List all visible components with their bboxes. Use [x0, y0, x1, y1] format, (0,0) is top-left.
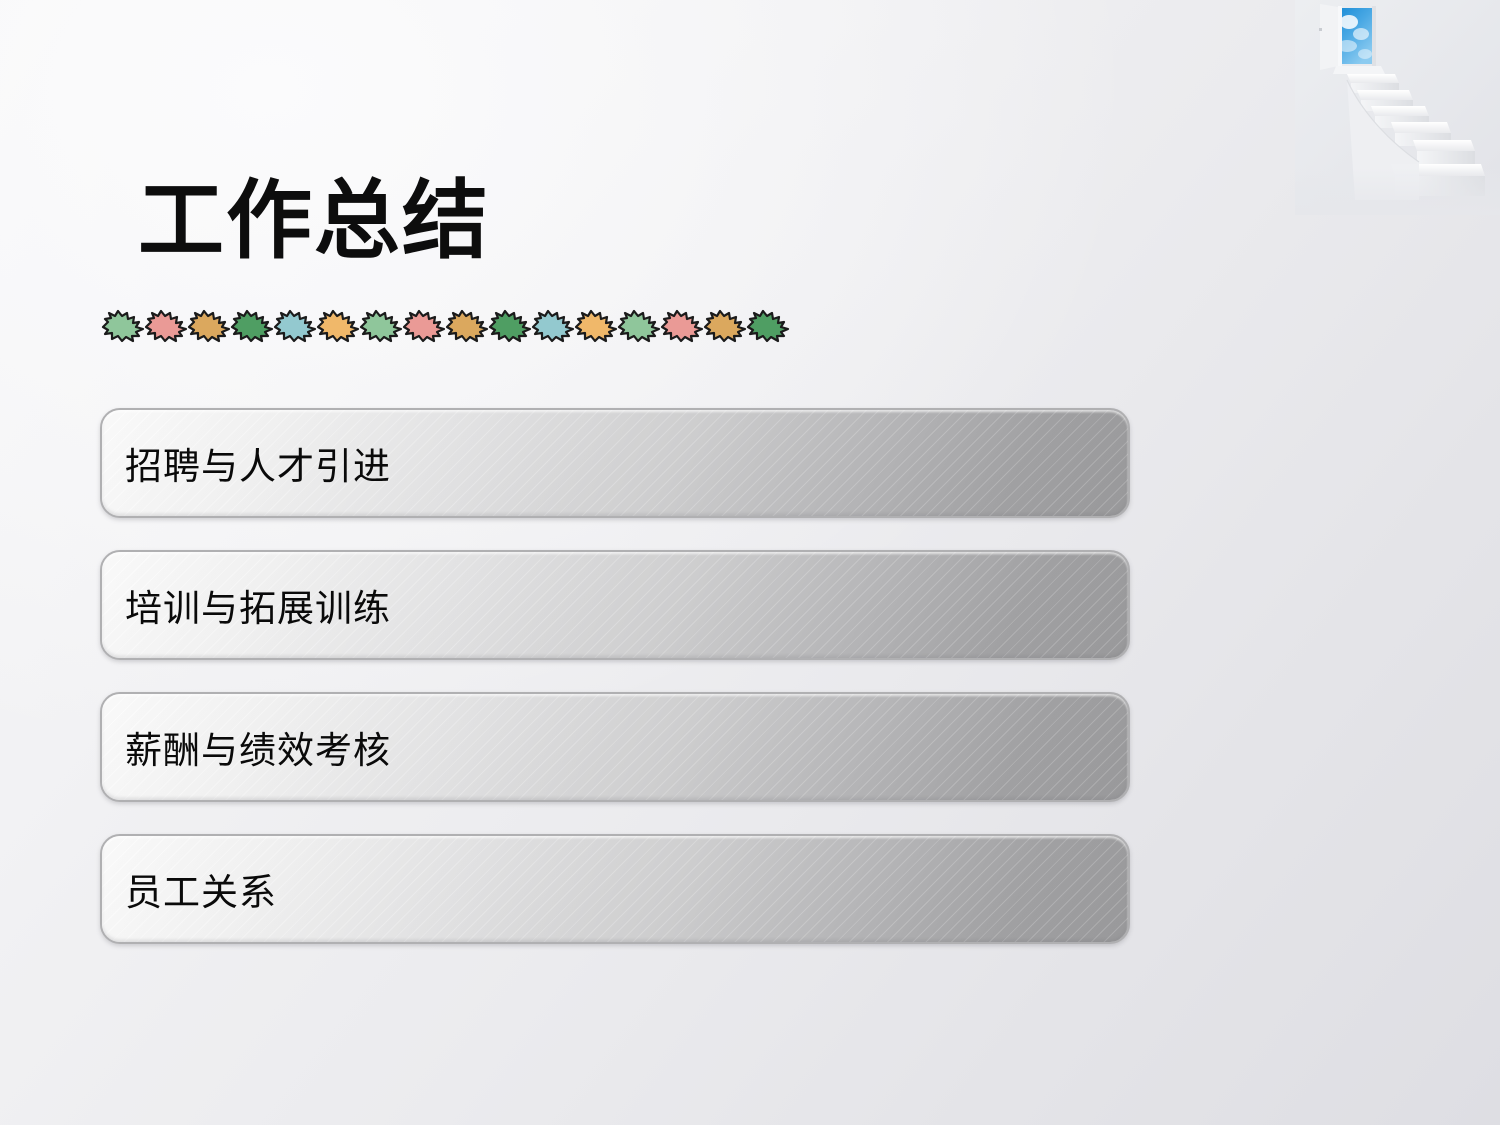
oak-leaf-icon [702, 307, 748, 343]
oak-leaf-icon [229, 307, 275, 343]
oak-leaf-icon [444, 307, 490, 343]
agenda-bar-recruitment[interactable]: 招聘与人才引进 [100, 408, 1130, 518]
oak-leaf-icon [272, 307, 318, 343]
oak-leaf-icon [143, 307, 189, 343]
oak-leaf-icon [487, 307, 533, 343]
agenda-bar-training[interactable]: 培训与拓展训练 [100, 550, 1130, 660]
agenda-bar-label: 培训与拓展训练 [102, 578, 391, 632]
oak-leaf-icon [315, 307, 361, 343]
oak-leaf-icon [745, 307, 791, 343]
agenda-bar-label: 招聘与人才引进 [102, 436, 391, 490]
oak-leaf-icon [573, 307, 619, 343]
oak-leaf-icon [616, 307, 662, 343]
oak-leaf-icon [358, 307, 404, 343]
open-door-with-sky [1319, 4, 1385, 74]
oak-leaf-icon [186, 307, 232, 343]
agenda-bar-employee-relations[interactable]: 员工关系 [100, 834, 1130, 944]
oak-leaf-divider [100, 303, 835, 347]
staircase-steps [1347, 74, 1485, 200]
oak-leaf-icon [100, 307, 146, 343]
agenda-bar-label: 薪酬与绩效考核 [102, 720, 391, 774]
oak-leaf-icon [659, 307, 705, 343]
oak-leaf-icon [401, 307, 447, 343]
presentation-slide: 工作总结 招聘与人才引进 培训与拓展训练 薪酬与绩效考核 员工关系 [0, 0, 1500, 1125]
slide-title: 工作总结 [138, 176, 490, 266]
oak-leaf-icon [530, 307, 576, 343]
agenda-bar-compensation[interactable]: 薪酬与绩效考核 [100, 692, 1130, 802]
agenda-bar-list: 招聘与人才引进 培训与拓展训练 薪酬与绩效考核 员工关系 [100, 408, 1130, 944]
staircase-decoration-image [1295, 0, 1500, 215]
agenda-bar-label: 员工关系 [102, 862, 277, 916]
